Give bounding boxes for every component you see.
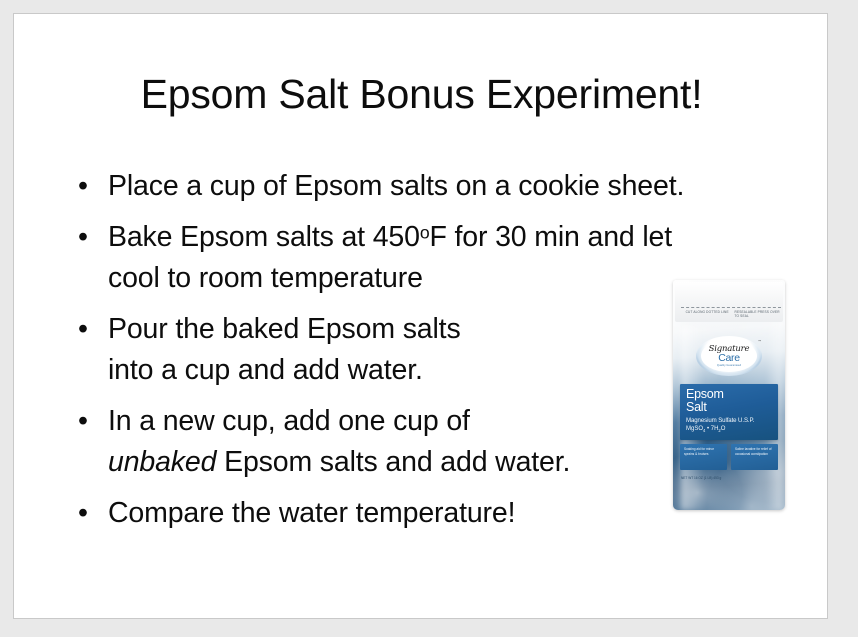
epsom-salt-product-image: CUT ALONG DOTTED LINE RESEALABLE PRESS O… xyxy=(673,280,785,510)
bag-body: CUT ALONG DOTTED LINE RESEALABLE PRESS O… xyxy=(673,280,785,510)
list-item: • Pour the baked Epsom salts into a cup … xyxy=(66,309,666,390)
text-segment: Bake Epsom salts at 450 xyxy=(108,221,420,253)
brand-tagline-text: Quality Guaranteed xyxy=(717,364,741,367)
brand-name-text: Care xyxy=(718,353,740,364)
list-item: • Compare the water temperature! xyxy=(66,493,666,533)
text-line: Bake Epsom salts at 450oF for 30 min and… xyxy=(108,217,666,257)
chemical-name: Magnesium Sulfate U.S.P. xyxy=(686,417,754,424)
bullet-glyph: • xyxy=(78,401,88,441)
text-segment: Epsom salts and add water. xyxy=(216,446,570,478)
list-item-text: Bake Epsom salts at 450oF for 30 min and… xyxy=(108,217,666,298)
resealable-label: RESEALABLE PRESS OVER TO SEAL xyxy=(735,310,784,318)
text-line: into a cup and add water. xyxy=(108,350,666,390)
use-claim-soaking: Soaking aid for minor sprains & bruises xyxy=(680,444,727,470)
dotted-cut-line-icon xyxy=(681,307,781,308)
bullet-glyph: • xyxy=(78,166,88,206)
list-item-text: Compare the water temperature! xyxy=(108,493,666,533)
bullet-glyph: • xyxy=(78,217,88,257)
text-line: cool to room temperature xyxy=(108,258,666,298)
product-label-panel: Epsom Salt Magnesium Sulfate U.S.P. MgSO… xyxy=(680,384,778,440)
cut-along-label: CUT ALONG DOTTED LINE xyxy=(686,310,729,314)
bullet-glyph: • xyxy=(78,309,88,349)
emphasis-word: unbaked xyxy=(108,446,216,478)
list-item-text: Pour the baked Epsom salts into a cup an… xyxy=(108,309,666,390)
slide-canvas: Epsom Salt Bonus Experiment! • Place a c… xyxy=(13,13,828,619)
bag-resealable-top: CUT ALONG DOTTED LINE RESEALABLE PRESS O… xyxy=(675,282,783,322)
trademark-icon: ™ xyxy=(758,339,761,343)
list-item-text: Place a cup of Epsom salts on a cookie s… xyxy=(108,166,666,206)
bullet-glyph: • xyxy=(78,493,88,533)
text-line: In a new cup, add one cup of xyxy=(108,401,666,441)
bullet-list: • Place a cup of Epsom salts on a cookie… xyxy=(66,166,666,545)
list-item-text: In a new cup, add one cup of unbaked Eps… xyxy=(108,401,666,482)
product-name: Epsom Salt xyxy=(686,388,724,414)
net-weight-text: NET WT 16 OZ (1 LB) 453 g xyxy=(681,476,721,481)
use-claim-laxative: Saline laxative for relief of occasional… xyxy=(731,444,778,470)
chemical-formula: MgSO4 • 7H2O xyxy=(686,426,725,433)
product-name-line2: Salt xyxy=(686,400,707,414)
text-line: Place a cup of Epsom salts on a cookie s… xyxy=(108,166,666,206)
list-item: • Place a cup of Epsom salts on a cookie… xyxy=(66,166,666,206)
text-line: unbaked Epsom salts and add water. xyxy=(108,442,666,482)
brand-logo-inner: Signature Care Quality Guaranteed xyxy=(701,340,757,372)
text-line: Compare the water temperature! xyxy=(108,493,666,533)
text-segment: F for 30 min and let xyxy=(429,221,672,253)
text-line: Pour the baked Epsom salts xyxy=(108,309,666,349)
page-title: Epsom Salt Bonus Experiment! xyxy=(14,71,828,118)
list-item: • In a new cup, add one cup of unbaked E… xyxy=(66,401,666,482)
list-item: • Bake Epsom salts at 450oF for 30 min a… xyxy=(66,217,666,298)
brand-logo: Signature Care Quality Guaranteed ™ xyxy=(696,336,762,376)
